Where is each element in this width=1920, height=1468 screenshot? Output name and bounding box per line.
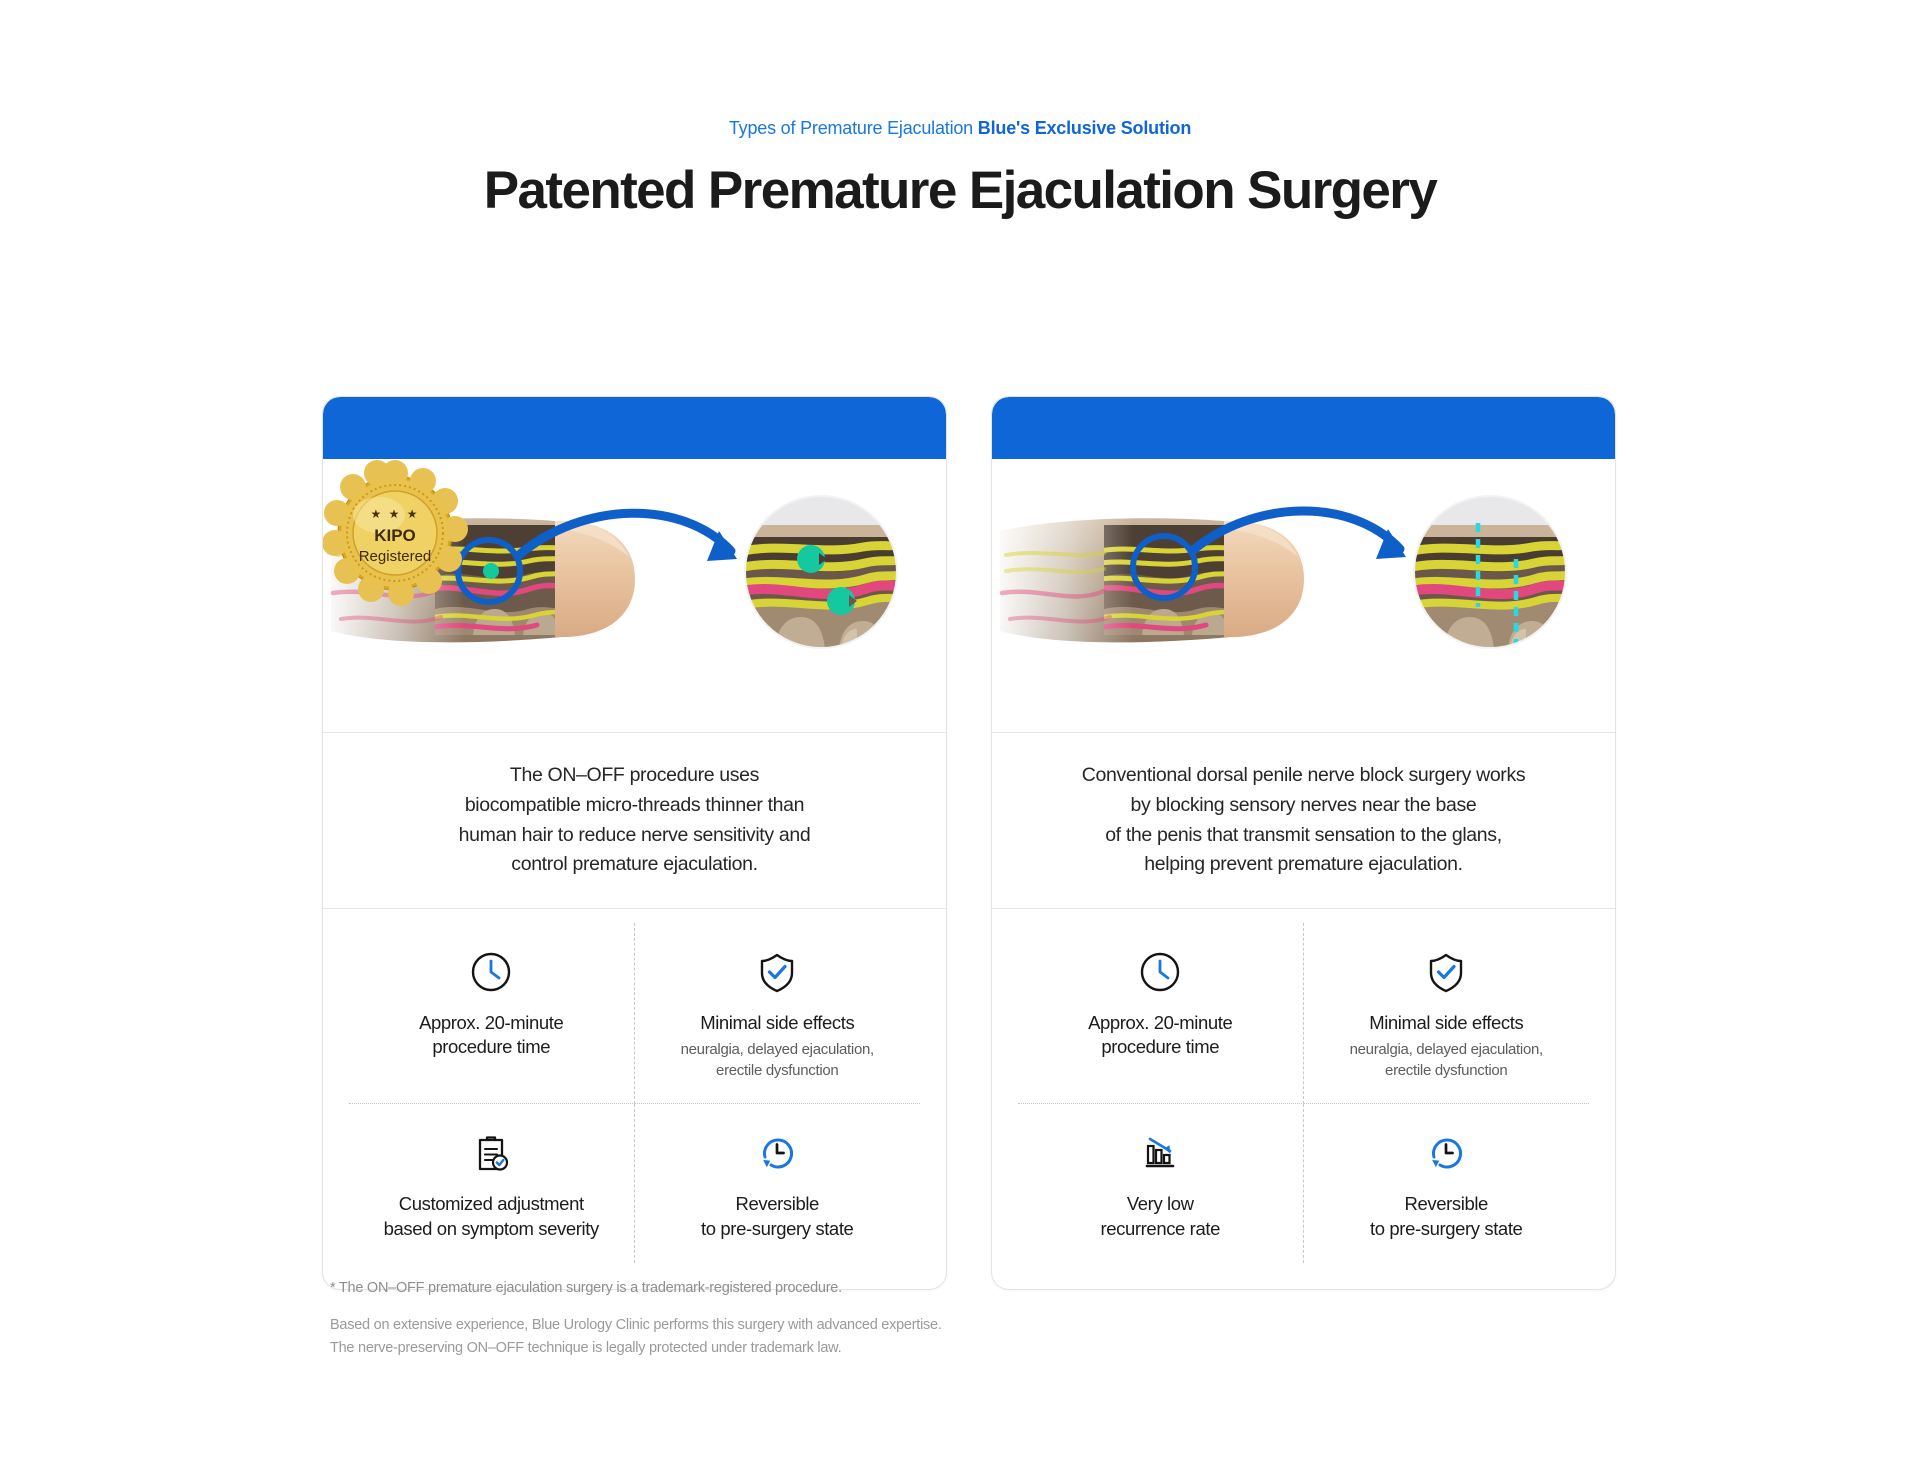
feature-title: Minimal side effects bbox=[700, 1011, 854, 1035]
card-header-bar bbox=[323, 397, 946, 459]
clock-icon bbox=[1138, 949, 1182, 995]
card-header-bar bbox=[992, 397, 1615, 459]
features-grid: Approx. 20-minute procedure time Minimal… bbox=[992, 909, 1615, 1289]
shield-check-icon bbox=[755, 949, 799, 995]
anatomy-diagram-treated: ★ ★ ★ KIPO Registered bbox=[323, 459, 946, 732]
clipboard-check-icon bbox=[469, 1130, 513, 1176]
feature-title: Approx. 20-minute procedure time bbox=[1088, 1011, 1232, 1060]
card-on-off-procedure: ★ ★ ★ KIPO Registered The ON–OFF procedu… bbox=[322, 396, 947, 1290]
feature-subtitle: neuralgia, delayed ejaculation, erectile… bbox=[1350, 1040, 1543, 1081]
page-title: Patented Premature Ejaculation Surgery bbox=[0, 160, 1920, 221]
card-description: The ON–OFF procedure uses biocompatible … bbox=[459, 761, 811, 880]
glans bbox=[555, 521, 635, 637]
feature-recurrence-rate: Very low recurrence rate bbox=[1018, 1104, 1304, 1263]
reverse-clock-icon bbox=[1424, 1130, 1468, 1176]
feature-minimal-side-effects: Minimal side effects neuralgia, delayed … bbox=[635, 923, 921, 1104]
feature-title: Approx. 20-minute procedure time bbox=[419, 1011, 563, 1060]
reverse-clock-icon bbox=[755, 1130, 799, 1176]
feature-title: Reversible to pre-surgery state bbox=[701, 1192, 853, 1241]
feature-title: Very low recurrence rate bbox=[1101, 1192, 1220, 1241]
features-grid: Approx. 20-minute procedure time Minimal… bbox=[323, 909, 946, 1289]
footnotes: * The ON–OFF premature ejaculation surge… bbox=[330, 1280, 1110, 1361]
feature-reversible: Reversible to pre-surgery state bbox=[635, 1104, 921, 1263]
eyebrow-plain: Types of Premature Ejaculation bbox=[729, 118, 978, 138]
feature-customized-adjustment: Customized adjustment based on symptom s… bbox=[349, 1104, 635, 1263]
footnote-line-2: The nerve-preserving ON–OFF technique is… bbox=[330, 1337, 1110, 1360]
feature-title: Reversible to pre-surgery state bbox=[1370, 1192, 1522, 1241]
badge-line2: Registered bbox=[359, 548, 432, 565]
shaft-body bbox=[992, 514, 1236, 646]
clock-icon bbox=[469, 949, 513, 995]
declining-bar-chart-icon bbox=[1138, 1130, 1182, 1176]
footnote-trademark: * The ON–OFF premature ejaculation surge… bbox=[330, 1280, 1110, 1296]
feature-procedure-time: Approx. 20-minute procedure time bbox=[1018, 923, 1304, 1104]
card-conventional-nerve-block: Conventional dorsal penile nerve block s… bbox=[991, 396, 1616, 1290]
eyebrow-text: Types of Premature Ejaculation Blue's Ex… bbox=[0, 118, 1920, 139]
badge-line1: KIPO bbox=[374, 526, 416, 545]
footnote-line-1: Based on extensive experience, Blue Urol… bbox=[330, 1314, 1110, 1337]
card-description-wrap: The ON–OFF procedure uses biocompatible … bbox=[323, 733, 946, 909]
shield-check-icon bbox=[1424, 949, 1468, 995]
feature-title: Minimal side effects bbox=[1369, 1011, 1523, 1035]
infographic-page: Types of Premature Ejaculation Blue's Ex… bbox=[0, 118, 1920, 1468]
eyebrow-strong: Blue's Exclusive Solution bbox=[978, 118, 1191, 138]
card-description: Conventional dorsal penile nerve block s… bbox=[1082, 761, 1526, 880]
feature-title: Customized adjustment based on symptom s… bbox=[384, 1192, 599, 1241]
magnified-view-treated bbox=[741, 496, 899, 649]
feature-procedure-time: Approx. 20-minute procedure time bbox=[349, 923, 635, 1104]
feature-subtitle: neuralgia, delayed ejaculation, erectile… bbox=[681, 1040, 874, 1081]
cards-row: ★ ★ ★ KIPO Registered The ON–OFF procedu… bbox=[322, 396, 1616, 1290]
anatomy-diagram-conventional bbox=[992, 459, 1615, 732]
illustration-conventional bbox=[992, 459, 1615, 733]
feature-reversible: Reversible to pre-surgery state bbox=[1304, 1104, 1590, 1263]
badge-stars: ★ ★ ★ bbox=[371, 507, 420, 521]
magnified-view-conventional bbox=[1410, 496, 1568, 649]
glans bbox=[1224, 521, 1304, 637]
illustration-on-off: ★ ★ ★ KIPO Registered bbox=[323, 459, 946, 733]
feature-minimal-side-effects: Minimal side effects neuralgia, delayed … bbox=[1304, 923, 1590, 1104]
card-description-wrap: Conventional dorsal penile nerve block s… bbox=[992, 733, 1615, 909]
